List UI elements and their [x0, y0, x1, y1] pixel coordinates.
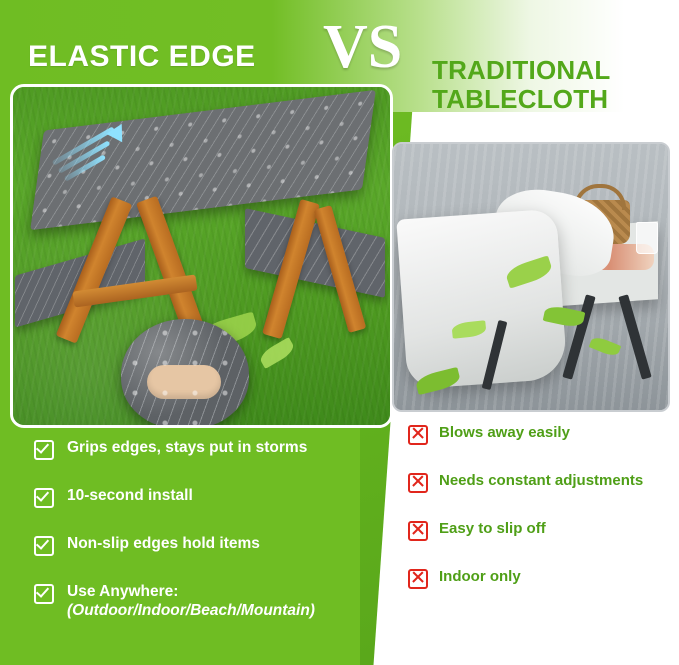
- wind-arrow-icon: [53, 113, 131, 183]
- list-item: Non-slip edges hold items: [34, 534, 379, 556]
- header-right-title-line2: TABLECLOTH: [432, 85, 672, 114]
- feature-text-group: Use Anywhere: (Outdoor/Indoor/Beach/Moun…: [67, 582, 315, 621]
- drawback-text: Easy to slip off: [439, 520, 546, 538]
- list-item: Grips edges, stays put in storms: [34, 438, 379, 460]
- check-icon: [34, 440, 54, 460]
- list-item: Easy to slip off: [408, 520, 670, 541]
- white-tablecloth-blowing: [396, 209, 567, 390]
- elastic-edge-photo: [10, 84, 393, 428]
- list-item: 10-second install: [34, 486, 379, 508]
- hand-illustration: [147, 365, 221, 399]
- x-icon: [408, 473, 428, 493]
- feature-text: 10-second install: [67, 486, 193, 505]
- feature-subtext: (Outdoor/Indoor/Beach/Mountain): [67, 601, 315, 620]
- feature-text: Grips edges, stays put in storms: [67, 438, 307, 457]
- comparison-infographic: ELASTIC EDGE VS TRADITIONAL TABLECLOTH: [0, 0, 679, 665]
- traditional-tablecloth-photo: [392, 142, 670, 412]
- header-vs-label: VS: [323, 16, 402, 78]
- drinking-cup: [636, 222, 658, 254]
- feature-text: Use Anywhere:: [67, 583, 178, 600]
- x-icon: [408, 569, 428, 589]
- header-right-title-line1: TRADITIONAL: [432, 55, 610, 85]
- feature-text: Non-slip edges hold items: [67, 534, 260, 553]
- drawback-text: Blows away easily: [439, 424, 570, 442]
- list-item: Needs constant adjustments: [408, 472, 670, 493]
- elastic-edge-closeup-inset: [121, 319, 249, 428]
- check-icon: [34, 584, 54, 604]
- list-item: Use Anywhere: (Outdoor/Indoor/Beach/Moun…: [34, 582, 379, 621]
- x-icon: [408, 425, 428, 445]
- list-item: Indoor only: [408, 568, 670, 589]
- check-icon: [34, 488, 54, 508]
- feature-list: Grips edges, stays put in storms 10-seco…: [34, 438, 379, 621]
- drawback-list: Blows away easily Needs constant adjustm…: [408, 424, 670, 589]
- header-right-title: TRADITIONAL TABLECLOTH: [432, 56, 672, 114]
- check-icon: [34, 536, 54, 556]
- drawback-text: Needs constant adjustments: [439, 472, 643, 490]
- header-left-title: ELASTIC EDGE: [28, 42, 256, 72]
- drawback-text: Indoor only: [439, 568, 521, 586]
- x-icon: [408, 521, 428, 541]
- list-item: Blows away easily: [408, 424, 670, 445]
